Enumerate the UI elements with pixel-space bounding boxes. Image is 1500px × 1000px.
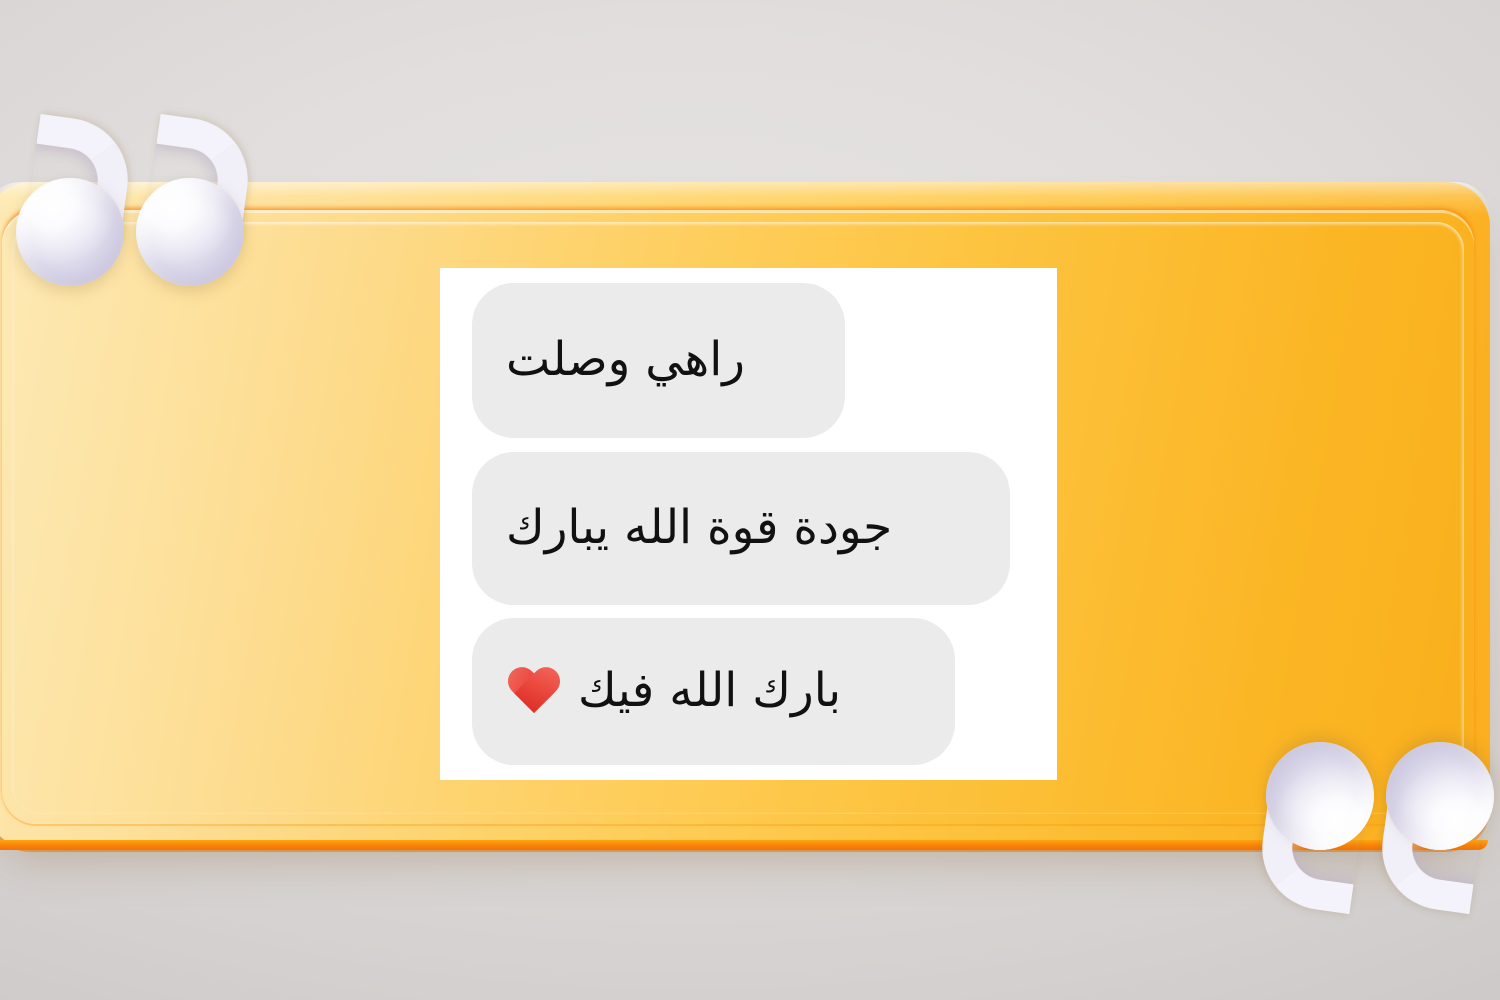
chat-message-text: راهي وصلت	[506, 333, 745, 387]
chat-message-text: جودة قوة الله يبارك	[506, 501, 892, 555]
red-heart-emoji	[506, 666, 562, 718]
screenshot-stage: راهي وصلت جودة قوة الله يبارك بارك الله …	[0, 0, 1500, 1000]
chat-bubble: جودة قوة الله يبارك	[472, 452, 1010, 605]
chat-screenshot-panel: راهي وصلت جودة قوة الله يبارك بارك الله …	[440, 268, 1057, 780]
card-bottom-edge	[0, 840, 1488, 850]
chat-message-text: بارك الله فيك	[578, 664, 841, 718]
chat-bubble: بارك الله فيك	[472, 618, 955, 765]
chat-bubble: راهي وصلت	[472, 283, 845, 438]
